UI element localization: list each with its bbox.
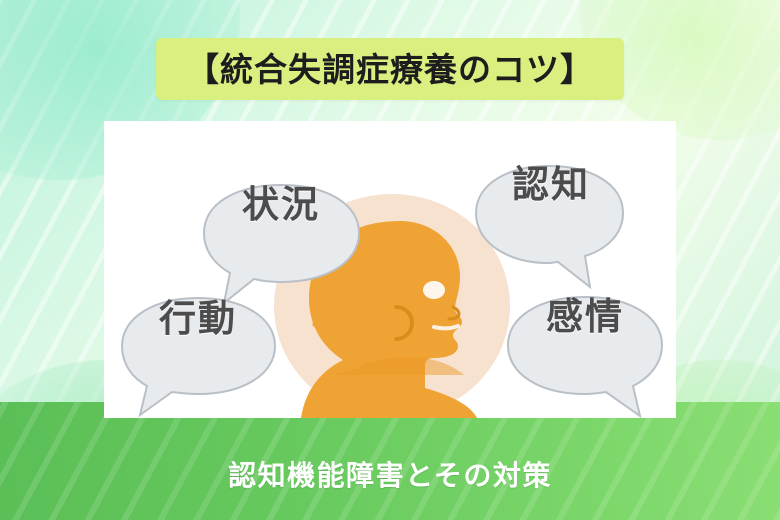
- slide-canvas: 【統合失調症療養のコツ】: [0, 0, 780, 520]
- page-title: 【統合失調症療養のコツ】: [186, 53, 594, 86]
- bubble-text-emotion: 感情: [546, 298, 624, 335]
- bubble-label-situation: 状況: [222, 169, 340, 239]
- bubble-label-cognition: 認知: [492, 149, 610, 219]
- bubble-label-emotion: 感情: [526, 281, 644, 351]
- page-subtitle: 認知機能障害とその対策: [0, 462, 780, 490]
- bubble-text-cognition: 認知: [512, 166, 590, 203]
- illustration-card: 状況 認知 行動 感情: [104, 121, 676, 418]
- bubble-label-behavior: 行動: [139, 283, 257, 353]
- bubble-text-situation: 状況: [242, 186, 320, 223]
- bubble-text-behavior: 行動: [159, 300, 237, 337]
- title-banner: 【統合失調症療養のコツ】: [156, 38, 624, 100]
